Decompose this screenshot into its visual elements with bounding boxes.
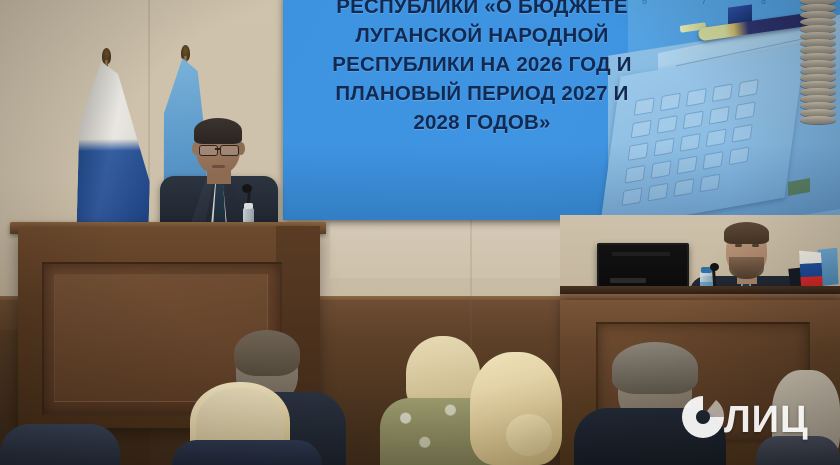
projection-screen: 6 7 8 (283, 0, 840, 220)
screen-shading (283, 144, 840, 220)
speaker-mouth (212, 165, 225, 168)
official-eye-left (735, 244, 742, 247)
screen-text-line-3: РЕСПУБЛИКИ НА 2026 ГОД И (283, 50, 681, 79)
wall-seam-right (470, 215, 472, 365)
audience-blonde-woman-shoulders (172, 440, 322, 465)
screen-text-line-2: ЛУГАНСКОЙ НАРОДНОЙ (283, 21, 681, 50)
photo-coin-stack (800, 0, 836, 130)
audience-grey-man-body (574, 408, 726, 465)
monitor-logo (610, 278, 646, 283)
monitor-top-bar (612, 252, 670, 256)
screen-text-line-4: ПЛАНОВЫЙ ПЕРИОД 2027 И (283, 79, 681, 108)
official-beard (729, 257, 764, 279)
speaker-brow (200, 140, 236, 143)
audience-right-person-body (756, 436, 840, 465)
screen-text-line-1: РЕСПУБЛИКИ «О БЮДЖЕТЕ (283, 0, 681, 21)
screenshot-root: 6 7 8 (0, 0, 840, 465)
glasses-icon (199, 145, 218, 156)
glasses-bridge (215, 148, 221, 150)
audience-blonde-bun (506, 414, 552, 456)
microphone-icon (242, 184, 252, 193)
desk-flag-russia (799, 249, 823, 290)
presidium-microphone-icon (710, 263, 719, 271)
audience-grey-man-hair (612, 342, 698, 394)
audience-man-suit-hair (234, 330, 300, 376)
screen-text-line-5: 2028 ГОДОВ» (283, 108, 681, 137)
audience-far-left-body (0, 424, 120, 465)
official-hair (724, 222, 769, 244)
official-eye-right (752, 244, 759, 247)
glasses-right-lens-icon (220, 145, 239, 156)
